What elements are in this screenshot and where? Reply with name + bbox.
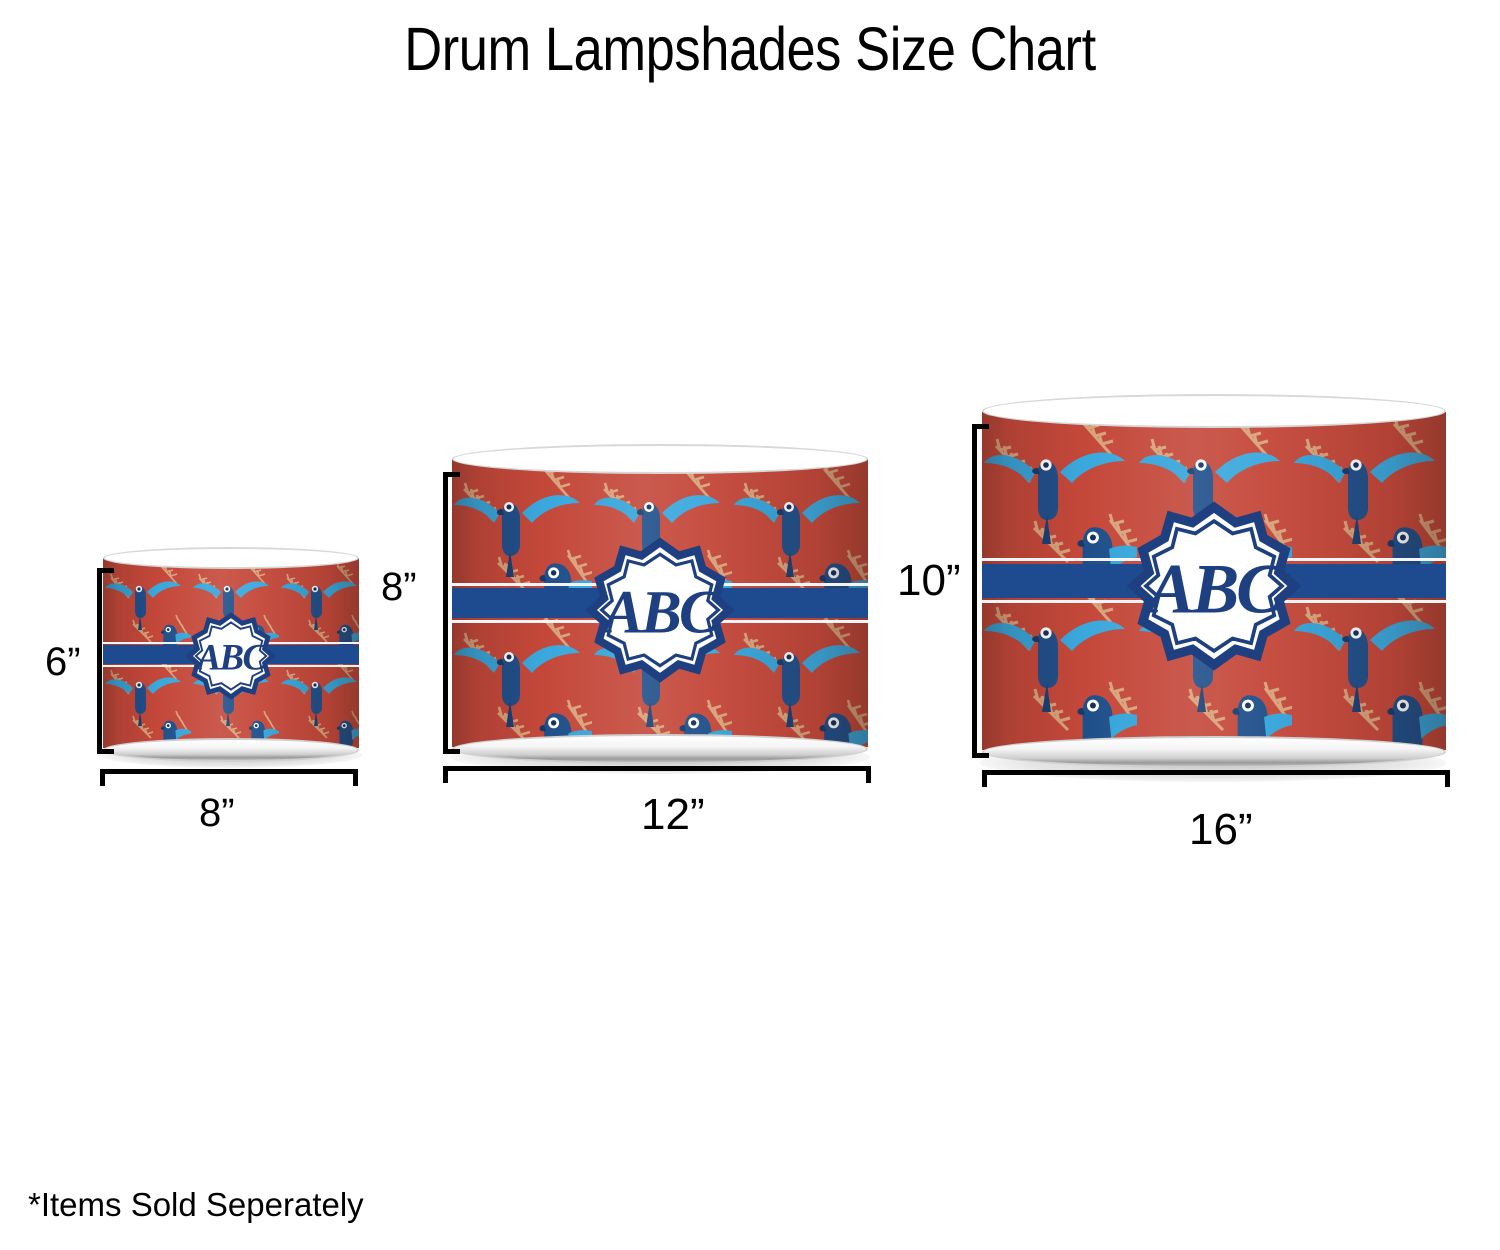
small-shade-monogram-text: ABC	[195, 637, 268, 678]
large-shade-top-rim	[982, 394, 1446, 428]
medium-shade-height-label: 8”	[381, 565, 417, 610]
medium-lampshade: ABC	[452, 456, 868, 756]
small-shade-body: ABC	[103, 558, 359, 748]
footnote-items-sold-separately: *Items Sold Seperately	[28, 1186, 364, 1224]
small-shade-monogram-medallion: ABC	[183, 612, 279, 700]
medium-shade-bottom-rim	[452, 734, 868, 764]
large-shade-height-label: 10”	[897, 556, 961, 606]
large-shade-body: ABC	[982, 412, 1446, 750]
large-lampshade: ABC	[982, 408, 1446, 758]
large-shade-bottom-rim	[982, 736, 1446, 768]
small-shade-bottom-rim	[103, 738, 359, 762]
small-shade-height-label: 6”	[45, 640, 81, 685]
medium-shade-top-rim	[452, 444, 868, 474]
medium-shade-monogram-text: ABC	[599, 580, 721, 647]
large-shade-monogram-text: ABC	[1144, 550, 1286, 628]
medium-shade-body: ABC	[452, 459, 868, 747]
small-lampshade: ABC	[103, 556, 359, 756]
medium-shade-width-label: 12”	[641, 790, 705, 840]
small-shade-width-label: 8”	[199, 791, 235, 836]
small-shade-top-rim	[103, 547, 359, 569]
large-shade-monogram-medallion: ABC	[1121, 501, 1307, 671]
medium-shade-monogram-medallion: ABC	[580, 537, 740, 683]
large-shade-width-label: 16”	[1189, 805, 1253, 855]
